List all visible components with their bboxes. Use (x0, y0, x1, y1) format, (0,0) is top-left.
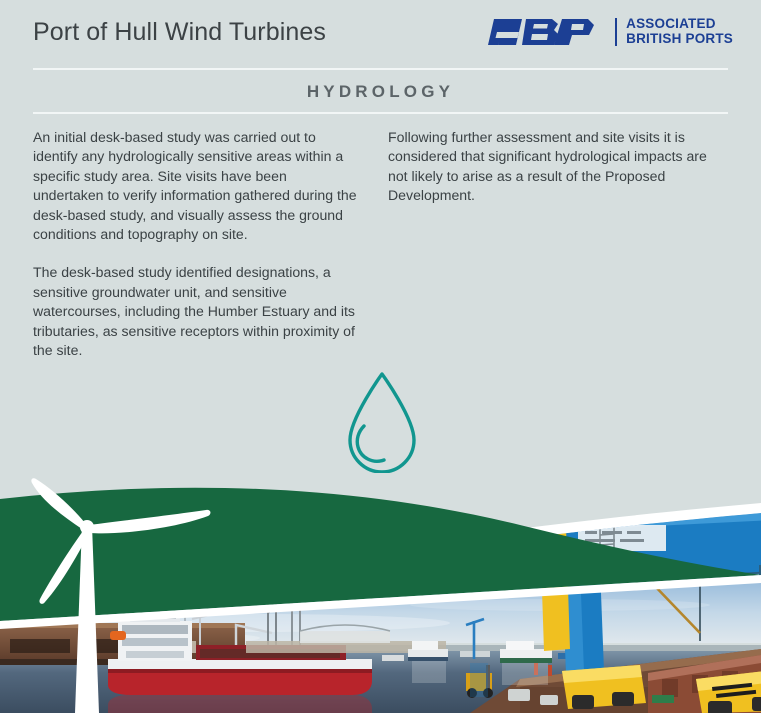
logo-divider (615, 18, 617, 46)
paragraph: The desk-based study identified designat… (33, 263, 361, 360)
paragraph: Following further assessment and site vi… (388, 128, 718, 206)
yellow-transporter (562, 665, 646, 709)
poster-board: Port of Hull Wind Turbines (0, 0, 761, 713)
abp-logo: ASSOCIATED BRITISH PORTS (488, 15, 733, 49)
divider-bottom (33, 112, 728, 114)
port-scene-illustration (0, 473, 761, 713)
ship-reflection (108, 695, 372, 713)
logo-line-1: ASSOCIATED (626, 17, 733, 32)
text-column-right: Following further assessment and site vi… (388, 128, 718, 206)
bottom-artwork (0, 473, 761, 713)
paragraph: An initial desk-based study was carried … (33, 128, 361, 244)
header: Port of Hull Wind Turbines (0, 0, 761, 62)
text-column-left: An initial desk-based study was carried … (33, 128, 361, 360)
water-droplet-icon (344, 370, 420, 475)
section-title: HYDROLOGY (0, 82, 761, 102)
abp-logotype-icon (488, 16, 606, 48)
logo-line-2: BRITISH PORTS (626, 32, 733, 47)
divider-top (33, 68, 728, 70)
page-title: Port of Hull Wind Turbines (33, 18, 326, 47)
logo-wordmark: ASSOCIATED BRITISH PORTS (626, 17, 733, 46)
